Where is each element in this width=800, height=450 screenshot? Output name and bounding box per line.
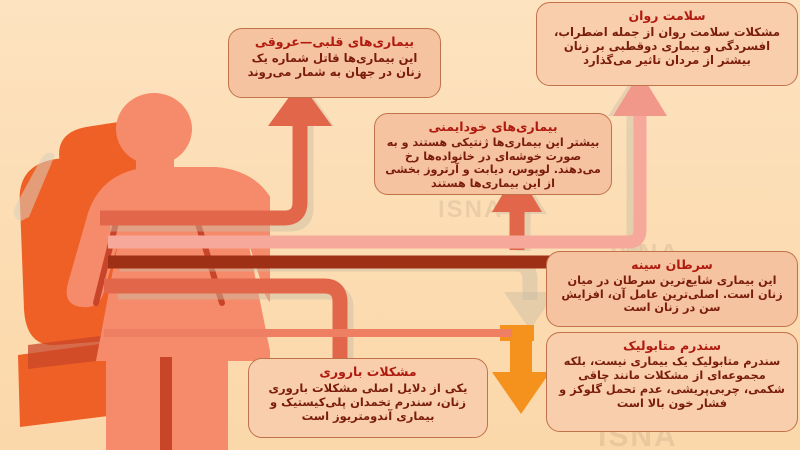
callout-cardiovascular-title: بیماری‌های قلبی—عروقی: [238, 34, 431, 49]
callout-cardiovascular-body: این بیماری‌ها قاتل شماره یک زنان در جهان…: [238, 51, 431, 79]
callout-breast-cancer[interactable]: سرطان سینه این بیماری شایع‌ترین سرطان در…: [546, 251, 798, 327]
callout-metabolic-syndrome-title: سندرم متابولیک: [556, 338, 788, 353]
callout-autoimmune[interactable]: بیماری‌های خودایمنی بیشتر این بیماری‌ها …: [374, 113, 612, 195]
callout-mental-health[interactable]: سلامت روان مشکلات سلامت روان از جمله اضط…: [536, 2, 798, 86]
arrow-to-metabolic: [492, 330, 550, 414]
callout-autoimmune-body: بیشتر این بیماری‌ها ژنتیکی هستند و به صو…: [384, 136, 602, 190]
arrow-to-cardio: [100, 82, 332, 218]
callout-metabolic-syndrome[interactable]: سندرم متابولیک سندرم متابولیک یک بیماری …: [546, 332, 798, 432]
callout-fertility-title: مشکلات باروری: [258, 364, 478, 379]
callout-metabolic-syndrome-body: سندرم متابولیک یک بیماری نیست، بلکه مجمو…: [556, 355, 788, 411]
callout-cardiovascular[interactable]: بیماری‌های قلبی—عروقی این بیماری‌ها قاتل…: [228, 28, 441, 98]
callout-mental-health-title: سلامت روان: [546, 8, 788, 23]
callout-fertility[interactable]: مشکلات باروری یکی از دلایل اصلی مشکلات ب…: [248, 358, 488, 438]
callout-mental-health-body: مشکلات سلامت روان از جمله اضطراب، افسردگ…: [546, 25, 788, 68]
callout-fertility-body: یکی از دلایل اصلی مشکلات باروری زنان، سن…: [258, 381, 478, 423]
callout-breast-cancer-body: این بیماری شایع‌ترین سرطان در میان زنان …: [556, 274, 788, 315]
callout-breast-cancer-title: سرطان سینه: [556, 257, 788, 272]
infographic-canvas: ISNAISNAISNAISNAISNAISNAISNAISNA: [0, 0, 800, 450]
callout-autoimmune-title: بیماری‌های خودایمنی: [384, 119, 602, 134]
